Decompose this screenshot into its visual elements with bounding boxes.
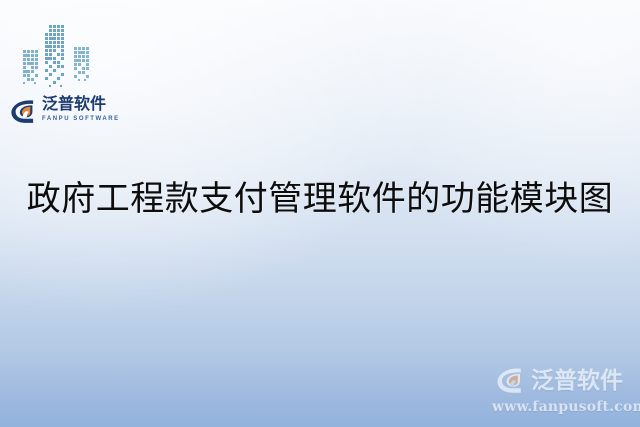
brand-name-cn: 泛普软件 (42, 96, 120, 114)
watermark-name-cn: 泛普软件 (531, 367, 623, 393)
watermark-logo-row: 泛普软件 (492, 363, 634, 397)
fanpu-swoosh-logo-icon (496, 365, 526, 395)
brand-name-en: FANPU SOFTWARE (42, 115, 120, 124)
brand-wordmark: 泛普软件 FANPU SOFTWARE (42, 96, 120, 124)
brand-block: 泛普软件 FANPU SOFTWARE (8, 20, 138, 140)
watermark-url: www.fanpusoft.com (492, 398, 634, 416)
pixel-skyline-icon (18, 22, 104, 94)
page-title: 政府工程款支付管理软件的功能模块图 (0, 176, 640, 222)
brand-logo-lockup: 泛普软件 FANPU SOFTWARE (10, 96, 120, 125)
fanpu-swoosh-logo-icon (10, 97, 38, 125)
watermark: 泛普软件 www.fanpusoft.com (492, 363, 634, 421)
background-sheen-right (330, 0, 640, 270)
slide-canvas: 泛普软件 FANPU SOFTWARE 政府工程款支付管理软件的功能模块图 泛普… (0, 0, 640, 427)
